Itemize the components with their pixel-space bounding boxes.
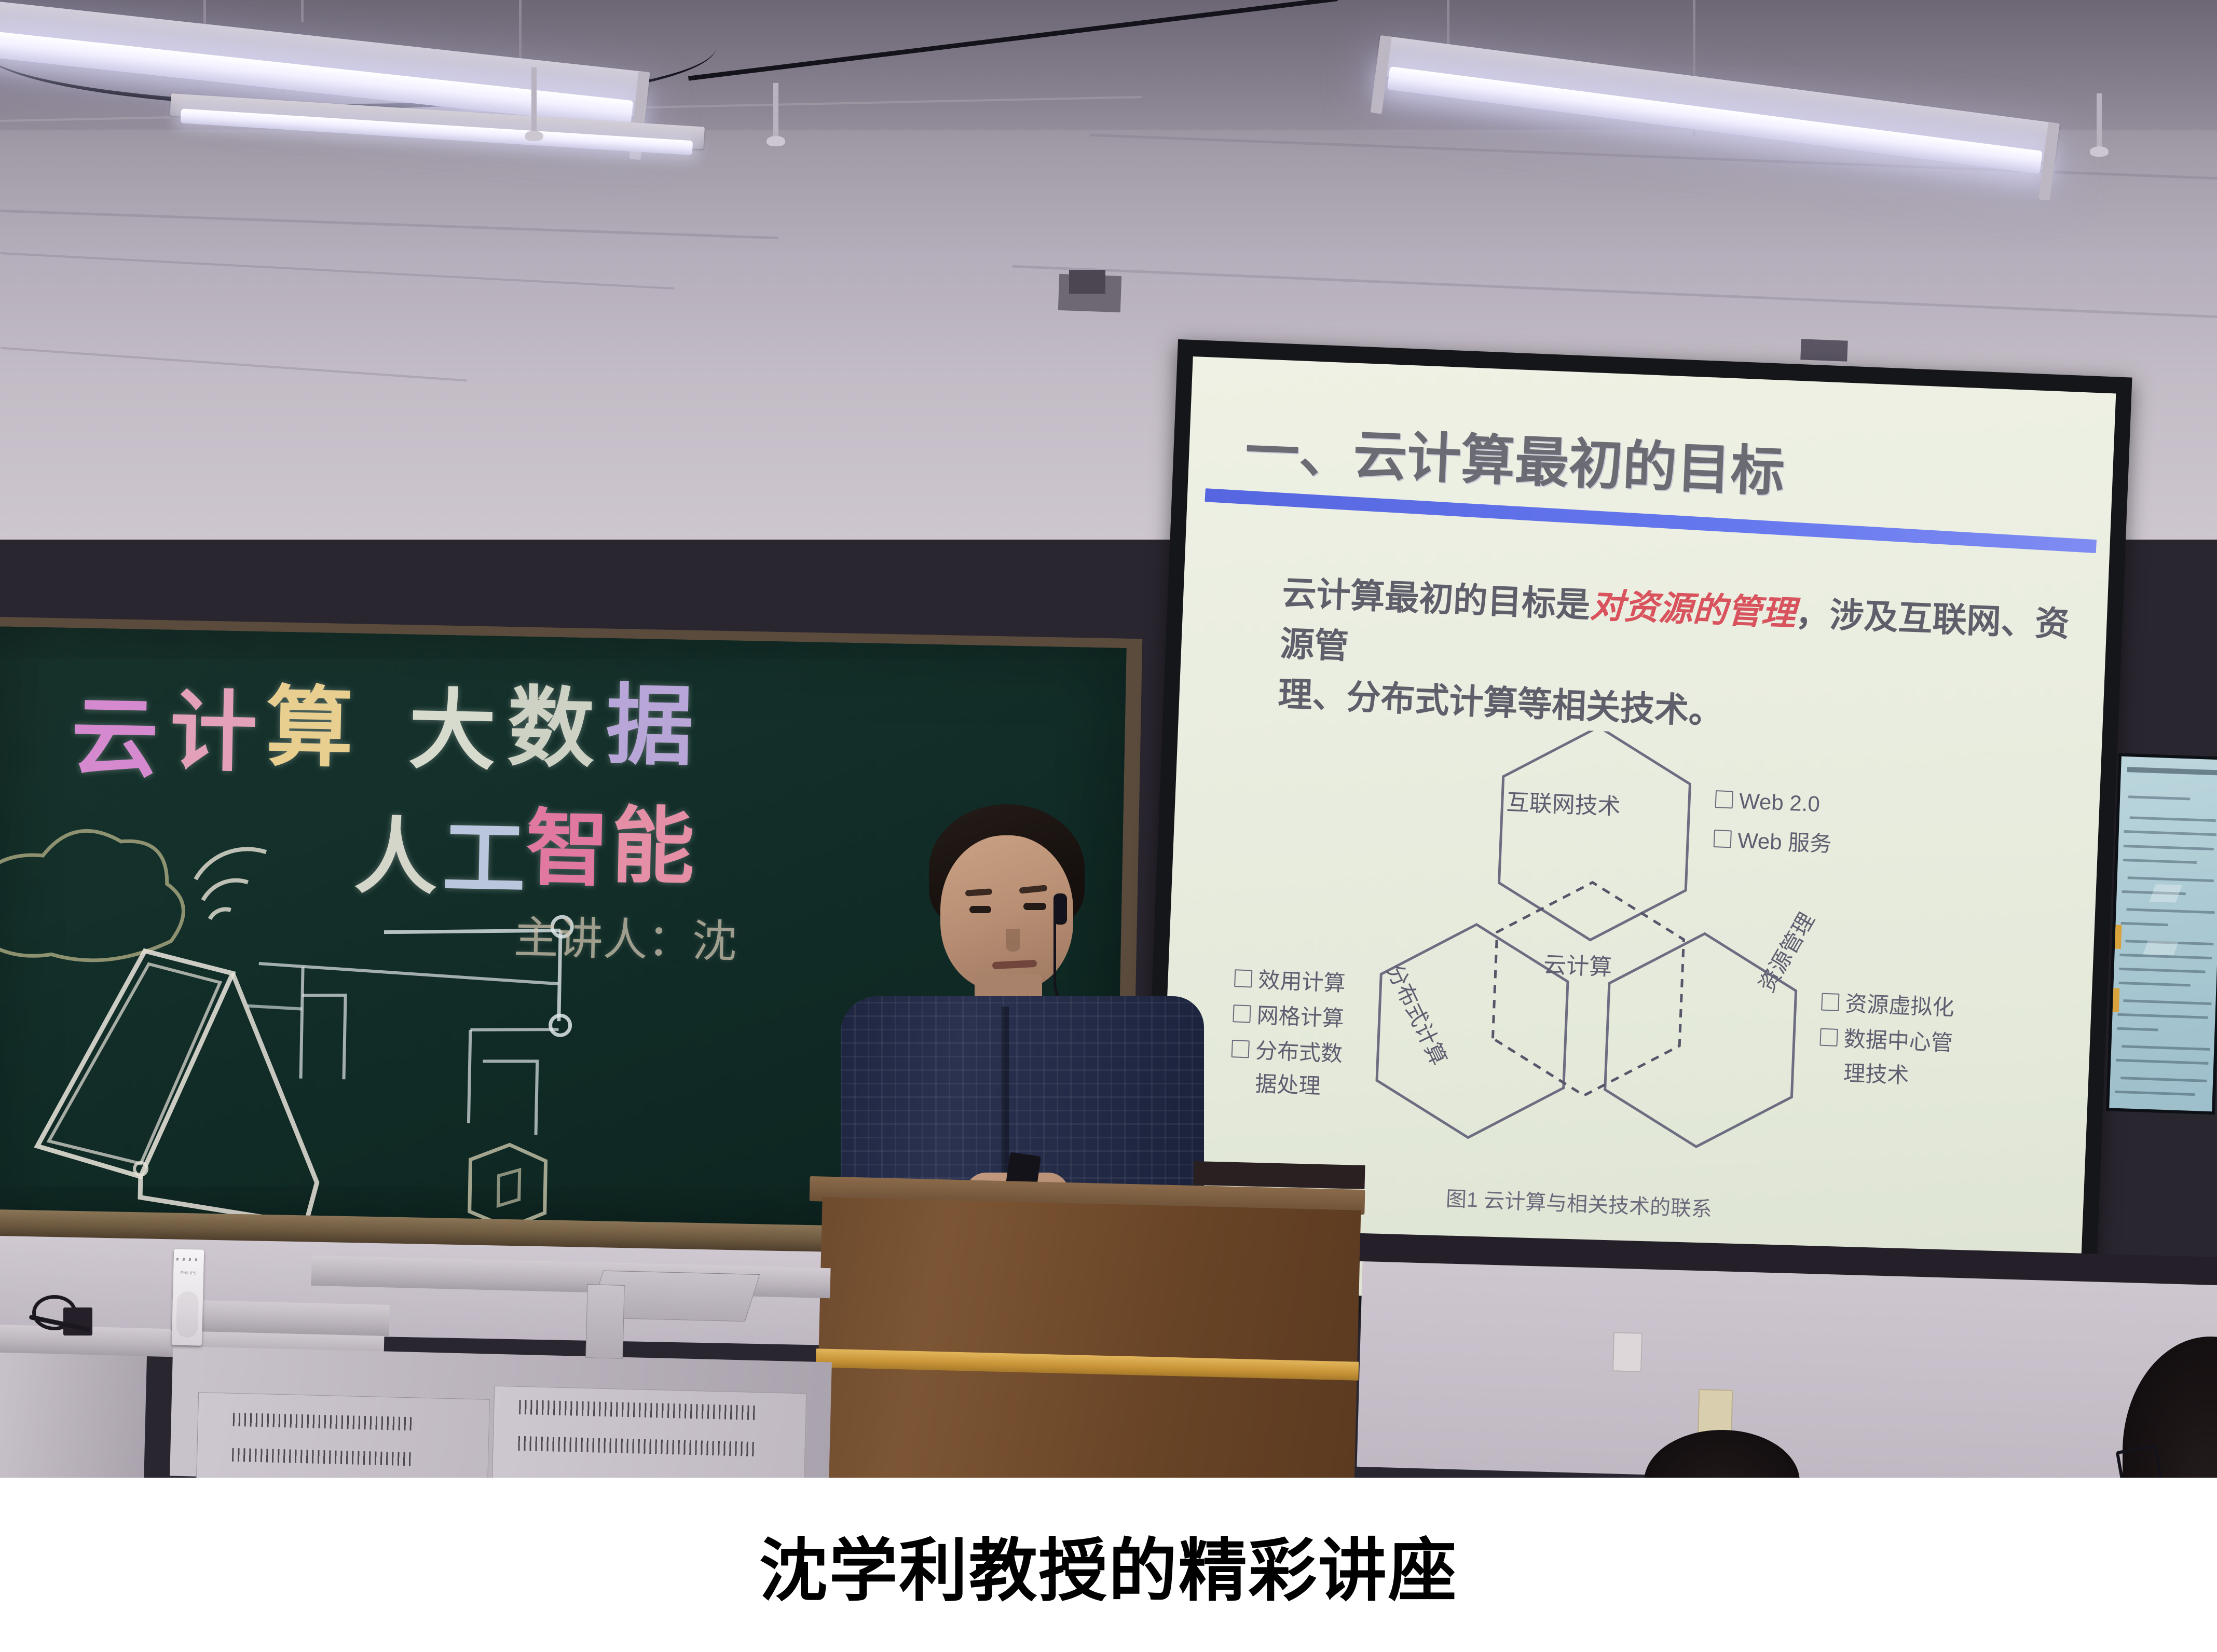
console-left-body (0, 1352, 147, 1478)
chalk-char-8: 工 (442, 791, 532, 913)
notice-clip-1 (2113, 925, 2122, 949)
diagram-right-item-1-label: 资源虚拟化 (1845, 991, 1955, 1020)
chalk-char-3: 算 (265, 656, 360, 784)
speaker-indicator-row (176, 1258, 201, 1261)
lower-right-wall (1357, 1249, 2217, 1478)
chalk-char-9: 智 (525, 781, 615, 903)
slide-body-prefix: 云计算最初的目标是 (1281, 573, 1591, 624)
diagram-right-item-1: 资源虚拟化 (1821, 985, 1955, 1022)
speaker-eye-left (969, 906, 991, 913)
projector-bracket (1069, 270, 1105, 294)
chalk-char-5: 数 (507, 657, 601, 784)
lamp-stub-1 (531, 67, 537, 140)
wall-socket-1 (1612, 1332, 1643, 1372)
chalk-char-2: 计 (169, 661, 264, 789)
console-door-right (492, 1386, 806, 1478)
podium-shelf-shadow (1193, 1161, 1365, 1189)
speaker-brand-label: PHILIPS (177, 1270, 200, 1275)
diagram-top-item-2: Web 服务 (1713, 822, 1832, 858)
lecture-photo: 云 计 算 大 数 据 人 工 智 能 主讲人：沈 一、云计算最初的目标 (0, 0, 2217, 1478)
diagram-top-label: 互联网技术 (1506, 783, 1621, 821)
diagram-center-label: 云计算 (1543, 946, 1612, 982)
console-riser (171, 1300, 389, 1336)
notice-board-content (2109, 756, 2217, 1111)
slide-title: 一、云计算最初的目标 (1244, 406, 1786, 506)
diagram-top-item-1-label: Web 2.0 (1739, 789, 1820, 816)
caption-band: 沈学利教授的精彩讲座 (0, 1478, 2217, 1652)
light-rod-3 (519, 0, 522, 62)
photo-caption: 沈学利教授的精彩讲座 (759, 1516, 1458, 1615)
diagram-right-item-2-label: 数据中心管 (1843, 1026, 1953, 1055)
light-rod-2 (301, 0, 304, 22)
keyboard-tray-bracket (585, 1284, 624, 1359)
speaker-eye-right (1023, 903, 1046, 910)
chalk-char-4: 大 (407, 659, 502, 787)
chalk-char-10: 能 (610, 778, 701, 900)
checkbox-icon (1714, 830, 1732, 848)
lamp-stub-2 (773, 83, 778, 145)
notice-clip-2 (2111, 988, 2120, 1013)
chalk-presenter-label: 主讲人：沈 (513, 901, 737, 970)
checkbox-icon (1715, 790, 1734, 809)
chalk-char-1: 云 (70, 667, 165, 794)
lamp-stub-3 (2097, 93, 2102, 156)
checkbox-icon (1821, 993, 1840, 1011)
diagram-right-item-2-cont: 理技术 (1843, 1055, 1909, 1090)
podium-body (816, 1197, 1361, 1478)
notice-board (2106, 753, 2217, 1115)
diagram-right-item-2: 数据中心管 (1819, 1021, 1953, 1057)
checkbox-icon (1819, 1028, 1838, 1047)
philips-speaker: PHILIPS (172, 1249, 204, 1345)
headset-earpiece-icon (1053, 893, 1067, 925)
diagram-top-item-2-label: Web 服务 (1737, 828, 1832, 856)
chalk-char-6: 据 (605, 655, 700, 782)
wall-bracket-right (1800, 339, 1848, 361)
console-door-left (196, 1392, 490, 1478)
diagram-top-item-1: Web 2.0 (1715, 788, 1820, 817)
speaker-grille (176, 1291, 199, 1338)
speaker-nose (1006, 929, 1020, 952)
chalk-char-7: 人 (353, 789, 444, 911)
notice-title-bar (2127, 767, 2217, 775)
slide-body-highlight: 对资源的管理 (1590, 586, 1797, 632)
screenshot-root: 云 计 算 大 数 据 人 工 智 能 主讲人：沈 一、云计算最初的目标 (0, 0, 2217, 1652)
